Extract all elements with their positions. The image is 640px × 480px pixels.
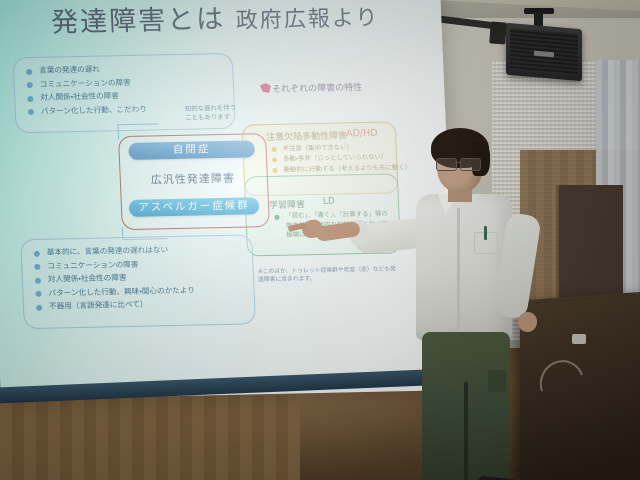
shirt-placket (457, 208, 460, 336)
glasses-lens-right (460, 158, 481, 171)
slide-title-main: 発達障害とは (51, 4, 226, 39)
slide-title-sub: 政府広報より (235, 6, 380, 34)
cargo-pocket (488, 370, 506, 392)
characteristics-header: それぞれの障害の特性 (256, 80, 363, 95)
wall-outlet (572, 334, 586, 344)
adhd-title: 注意欠陥多動性障害 (266, 128, 348, 143)
slide-title: 発達障害とは 政府広報より (50, 0, 432, 40)
leg-separation (464, 382, 468, 480)
shirt-torso (416, 194, 512, 340)
lower-wood-paneling (0, 395, 300, 480)
photo-scene: 発達障害とは 政府広報より 言葉の発達の遅れ コミュニケーションの障害 対人関係… (0, 0, 640, 480)
asperger-symptoms-card: 基本的に、言葉の発達の遅れはない コミュニケーションの障害 対人関係・社会性の障… (20, 234, 256, 329)
asperger-symptoms-list: 基本的に、言葉の発達の遅れはない コミュニケーションの障害 対人関係・社会性の障… (21, 235, 254, 314)
right-hand (517, 311, 539, 334)
rod-bracket (489, 21, 506, 44)
ceiling-speaker (506, 23, 582, 82)
autism-pill: 自閉症 (128, 140, 255, 160)
glasses-icon (436, 158, 484, 169)
pdd-label: 広汎性発達障害 (129, 169, 256, 188)
presenter (360, 120, 550, 480)
intellectual-delay-note: 知的な遅れを伴うこともあります (185, 104, 238, 122)
pen-icon (484, 226, 487, 240)
glasses-lens-left (436, 158, 457, 171)
ld-title: 学習障害 (269, 197, 306, 211)
ld-abbreviation: LD (323, 197, 335, 207)
asperger-pill: アスペルガー症候群 (129, 197, 260, 217)
